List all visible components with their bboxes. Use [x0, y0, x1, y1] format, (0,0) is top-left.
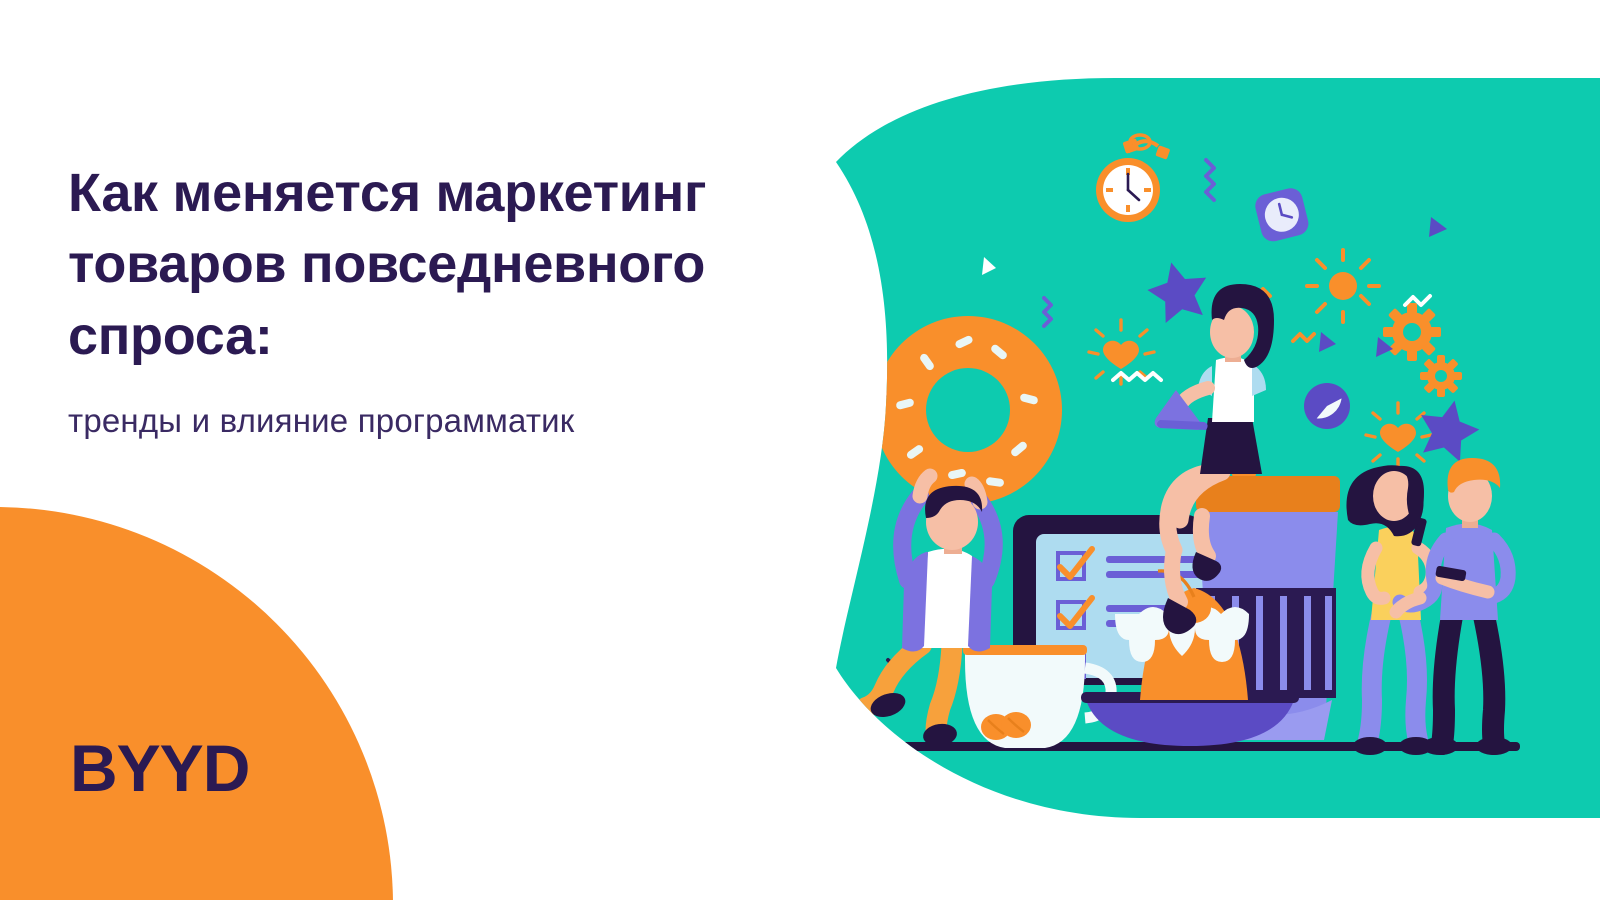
- headline-block: Как меняется маркетинг товаров повседнев…: [68, 158, 808, 443]
- byyd-logo[interactable]: BYYD: [70, 735, 249, 801]
- triangle-icon-white: [982, 257, 996, 275]
- star-icon: [1143, 256, 1214, 325]
- sun-icon: [1307, 250, 1379, 322]
- triangle-icon: [1319, 332, 1336, 352]
- zigzag-icon: [1044, 298, 1051, 326]
- alarm-clock-icon: [1253, 186, 1311, 244]
- page-title: Как меняется маркетинг товаров повседнев…: [68, 158, 808, 372]
- triangle-icon: [1376, 337, 1393, 357]
- gears-icon: [1383, 303, 1462, 397]
- pie-chart-icon: [1304, 383, 1350, 429]
- zigzag-icon: [836, 393, 860, 400]
- triangle-icon: [1429, 217, 1447, 237]
- star-icon: [1412, 394, 1484, 465]
- giant-donut: [874, 316, 1062, 504]
- page-subtitle: тренды и влияние программатик: [68, 400, 808, 443]
- coffee-beans: [981, 712, 1031, 740]
- zigzag-icon: [1206, 160, 1214, 200]
- zigzag-icon: [1405, 296, 1430, 305]
- stopwatch-icon: [1096, 135, 1170, 222]
- banner-root: Как меняется маркетинг товаров повседнев…: [0, 0, 1600, 900]
- zigzag-icon: [1293, 334, 1314, 341]
- heart-sun-icon: [1366, 403, 1431, 467]
